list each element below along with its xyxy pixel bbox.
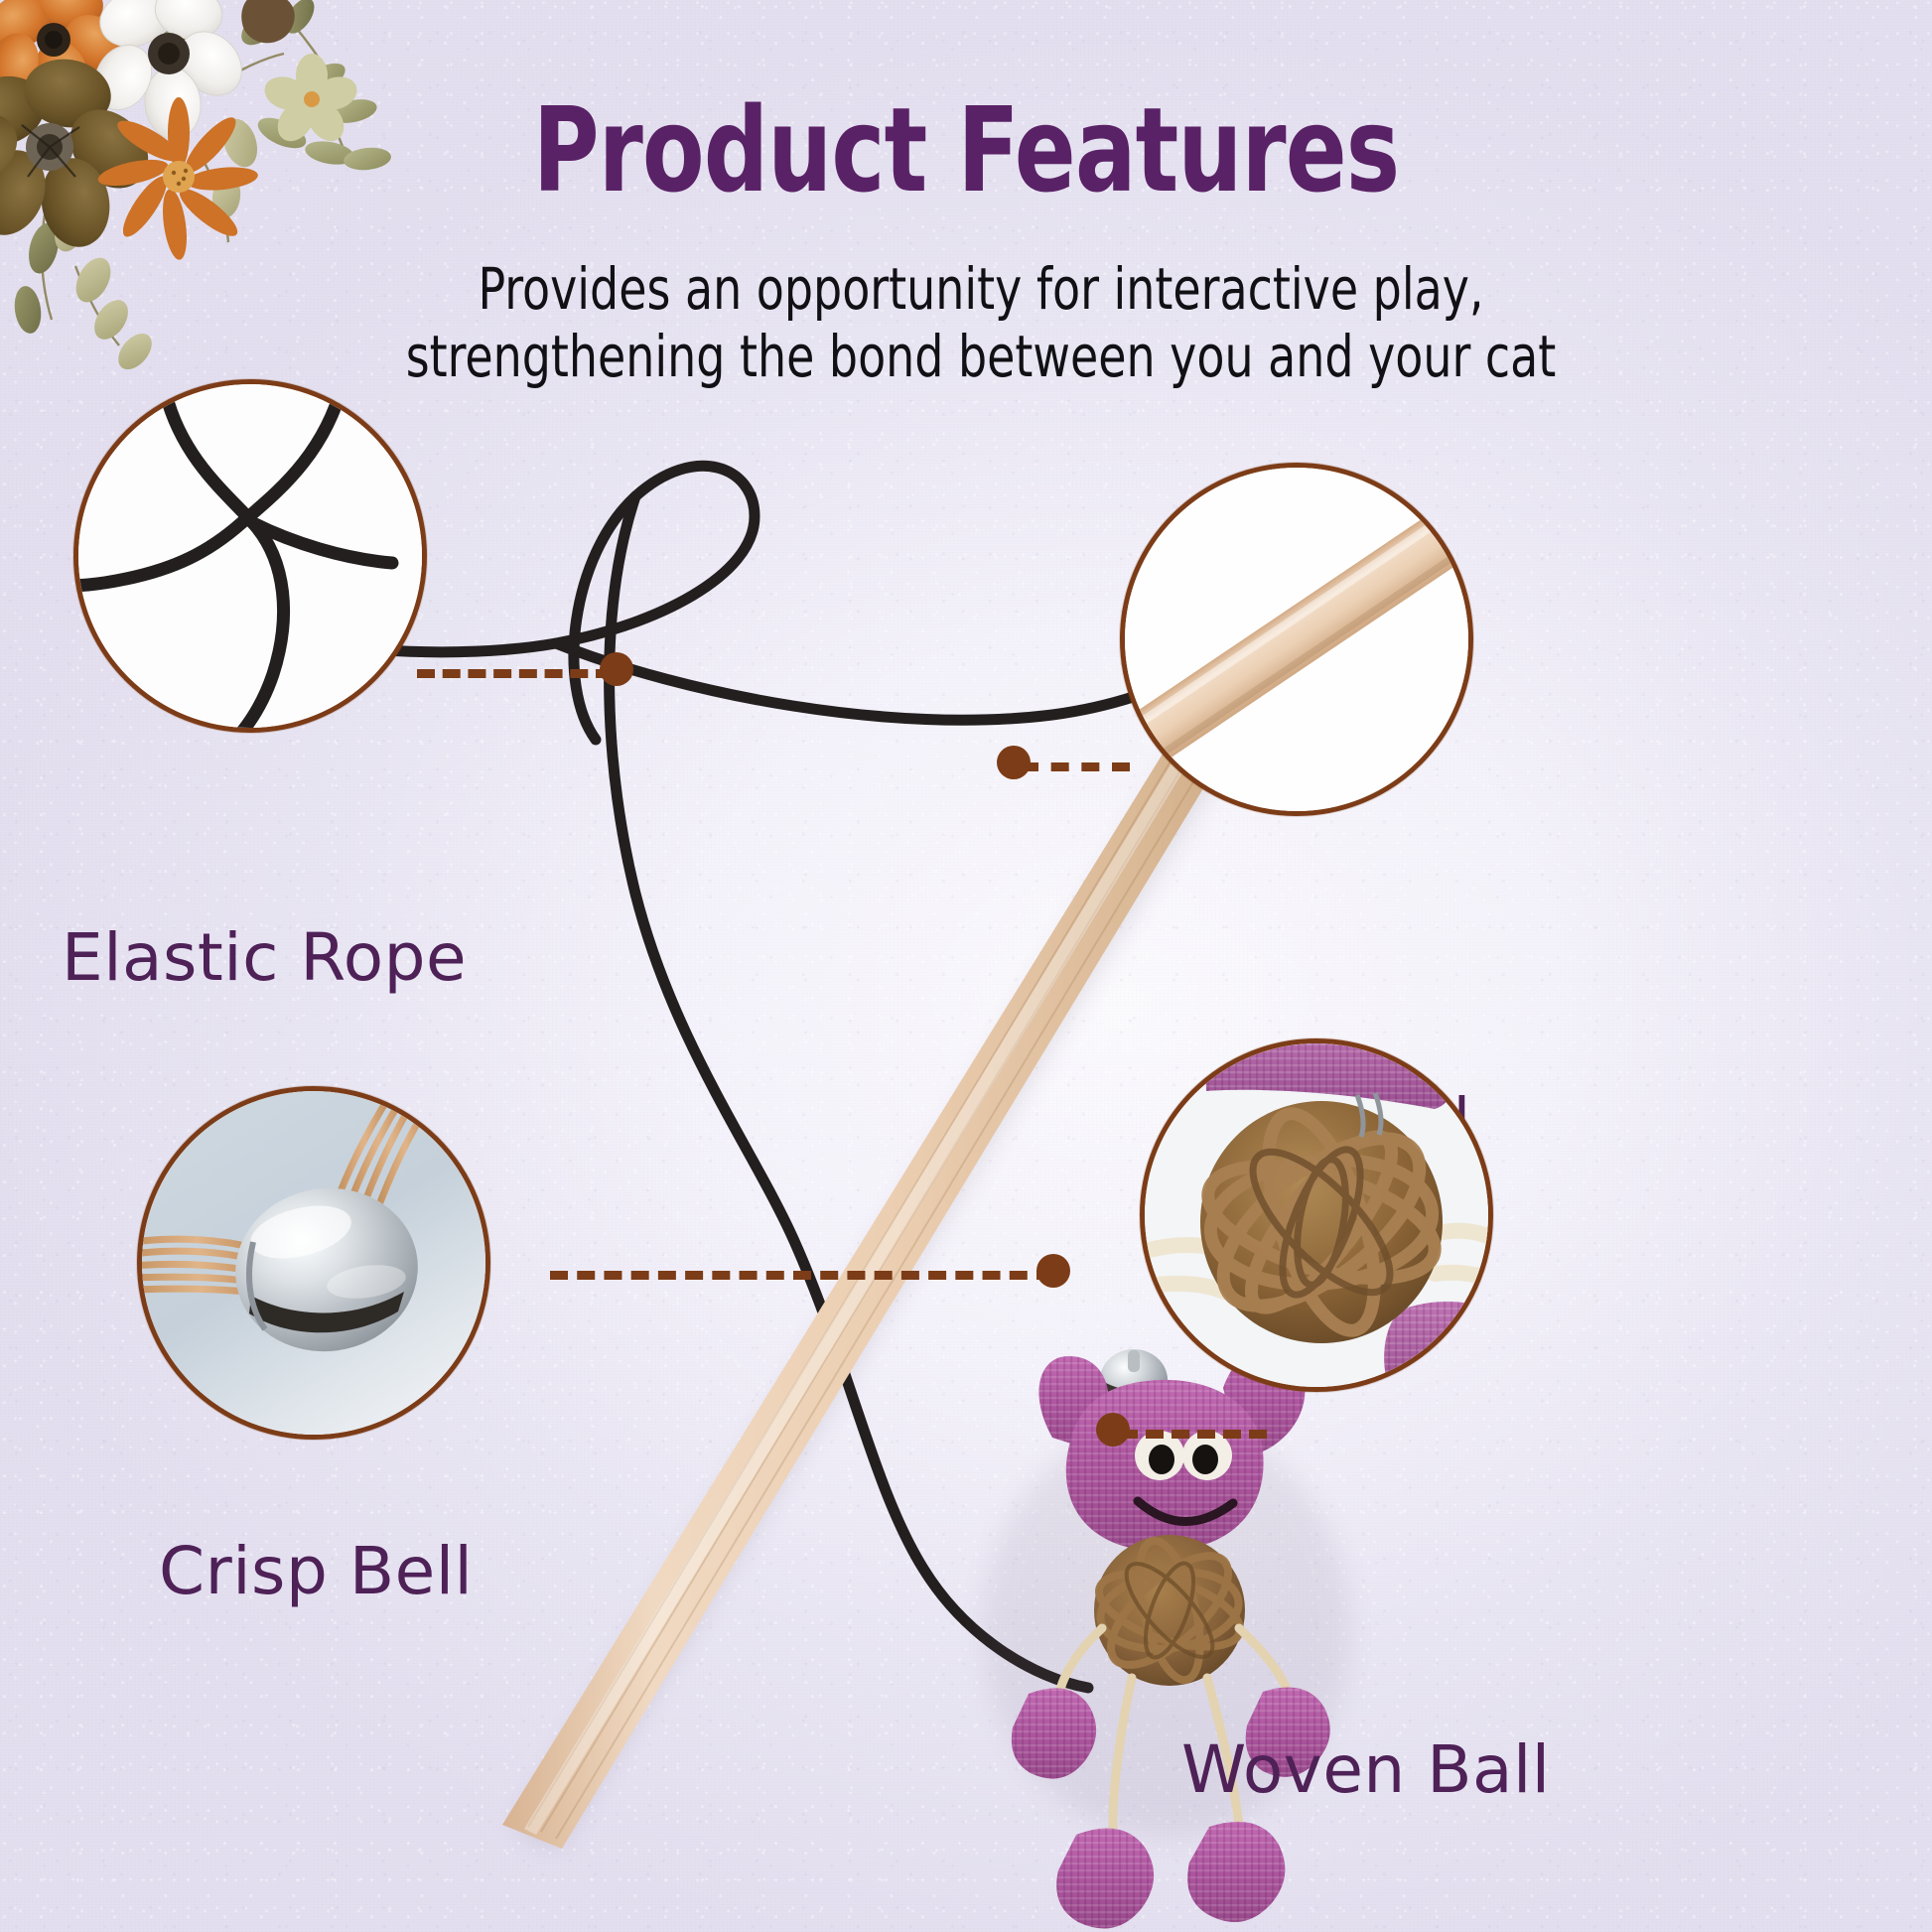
callout-label-elastic-rope: Elastic Rope: [62, 923, 467, 993]
connector-line-woven-ball: [1120, 1430, 1267, 1439]
connector-dot-woven-ball: [1096, 1413, 1130, 1447]
infographic-canvas: Product Features Provides an opportunity…: [0, 0, 1932, 1932]
connector-line-wooden-stick: [1021, 762, 1130, 771]
callout-circle-wooden-stick[interactable]: [1120, 463, 1473, 816]
connector-dot-crisp-bell: [1036, 1254, 1070, 1288]
callout-circle-crisp-bell[interactable]: [137, 1086, 490, 1440]
wooden-stick-closeup-image: [1125, 468, 1468, 811]
connector-line-crisp-bell: [550, 1271, 1054, 1280]
connector-dot-elastic-rope: [600, 652, 633, 686]
callout-circle-woven-ball[interactable]: [1140, 1038, 1493, 1392]
connector-line-elastic-rope: [417, 669, 614, 678]
callout-label-crisp-bell: Crisp Bell: [159, 1537, 473, 1606]
page-subtitle: Provides an opportunity for interactive …: [284, 256, 1678, 391]
page-title: Product Features: [135, 91, 1797, 208]
connector-dot-wooden-stick: [997, 746, 1031, 779]
elastic-rope-closeup-image: [78, 384, 422, 728]
crisp-bell-closeup-image: [142, 1091, 485, 1435]
callout-label-woven-ball: Woven Ball: [1181, 1735, 1551, 1805]
subtitle-line-1: Provides an opportunity for interactive …: [284, 256, 1678, 324]
subtitle-line-2: strengthening the bond between you and y…: [284, 324, 1678, 391]
callout-circle-elastic-rope[interactable]: [73, 379, 427, 733]
woven-ball-closeup-image: [1145, 1043, 1488, 1387]
